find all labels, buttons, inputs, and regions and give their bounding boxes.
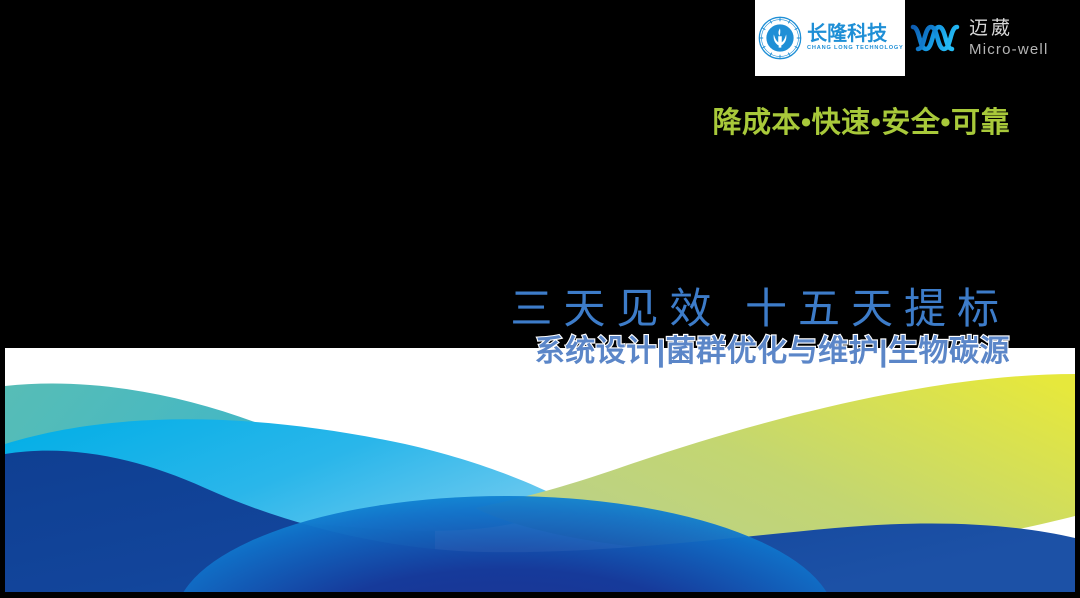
- changlong-name-en: CHANG LONG TECHNOLOGY: [807, 46, 904, 52]
- changlong-name-cn: 长隆科技: [807, 24, 887, 44]
- changlong-logo-text: 长隆科技 CHANG LONG TECHNOLOGY: [807, 24, 902, 52]
- circular-seal-emblem-icon: [758, 16, 802, 60]
- microwell-name-cn: 迈葳: [969, 19, 1013, 39]
- microwell-logo: 迈葳 Micro-well: [910, 0, 1080, 76]
- tagline-text: 降成本•快速•安全•可靠: [0, 99, 1010, 141]
- page-subtitle: 系统设计|菌群优化与维护|生物碳源: [0, 335, 1010, 368]
- microwell-name-en: Micro-well: [969, 42, 1049, 58]
- wave-artwork: [5, 348, 1075, 592]
- interlocking-wave-mark-icon: [910, 19, 960, 57]
- headline-block: 三天见效 十五天提标 系统设计|菌群优化与维护|生物碳源: [0, 286, 1010, 368]
- presentation-slide: 长隆科技 CHANG LONG TECHNOLOGY: [0, 0, 1080, 598]
- wave-artwork-svg: [5, 348, 1075, 592]
- microwell-logo-text: 迈葳 Micro-well: [969, 19, 1049, 58]
- page-title: 三天见效 十五天提标: [0, 286, 1010, 331]
- logo-bar: 长隆科技 CHANG LONG TECHNOLOGY: [755, 0, 1080, 76]
- changlong-logo: 长隆科技 CHANG LONG TECHNOLOGY: [755, 0, 905, 76]
